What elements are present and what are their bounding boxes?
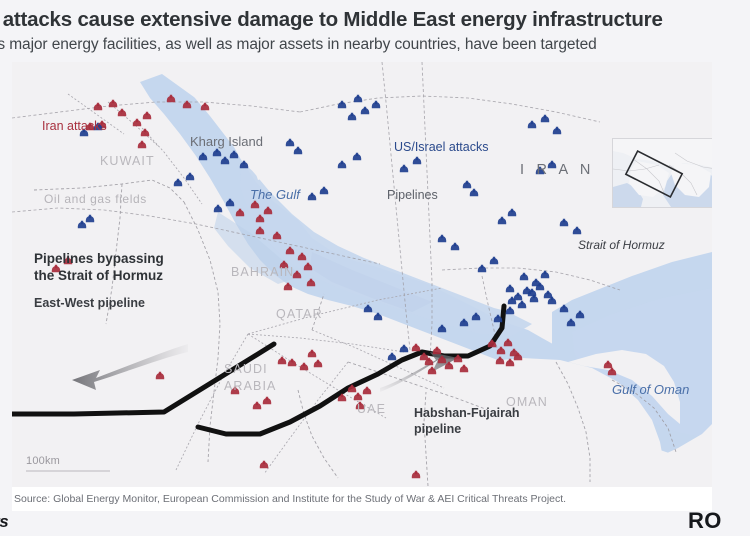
reuters-wordmark: ers: [0, 512, 8, 532]
label-country-iran: I R A N: [520, 162, 595, 178]
scale-bar-label: 100km: [26, 455, 60, 467]
label-country-saudi-line1: SAUDI: [224, 362, 268, 376]
label-country-kuwait: KUWAIT: [100, 154, 155, 168]
annotation-habshan-line1: Habshan-Fujairah: [414, 405, 520, 421]
annotation-habshan-line2: pipeline: [414, 421, 461, 437]
legend-iran-attacks: Iran attacks: [42, 119, 107, 133]
label-country-bahrain: BAHRAIN: [231, 265, 294, 279]
label-gulf-of-oman: Gulf of Oman: [612, 382, 689, 397]
annotation-bypass-line1: Pipelines bypassing: [34, 250, 164, 267]
map-panel[interactable]: Iran attacks US/Israel attacks Oil and g…: [12, 62, 712, 487]
label-the-gulf: The Gulf: [250, 187, 300, 202]
page-subtitle: n's major energy facilities, as well as …: [0, 34, 750, 56]
label-strait-of-hormuz: Strait of Hormuz: [578, 238, 665, 252]
page-title: a attacks cause extensive damage to Midd…: [0, 6, 750, 34]
inset-locator-map: [612, 138, 712, 208]
annotation-bypass-line2: the Strait of Hormuz: [34, 267, 163, 284]
label-oil-and-gas-fields: Oil and gas fields: [44, 192, 147, 206]
label-country-uae: UAE: [357, 402, 386, 416]
annotation-east-west-pipeline: East-West pipeline: [34, 295, 145, 311]
label-country-saudi-line2: ARABIA: [224, 379, 276, 393]
legend-us-israel-attacks: US/Israel attacks: [394, 140, 488, 154]
infographic-page: a attacks cause extensive damage to Midd…: [0, 0, 750, 536]
label-pipelines: Pipelines: [387, 188, 438, 202]
reuters-logo: RO: [688, 508, 722, 534]
source-note: Source: Global Energy Monitor, European …: [14, 493, 714, 505]
label-kharg-island: Kharg Island: [190, 134, 263, 149]
label-country-qatar: QATAR: [276, 307, 323, 321]
